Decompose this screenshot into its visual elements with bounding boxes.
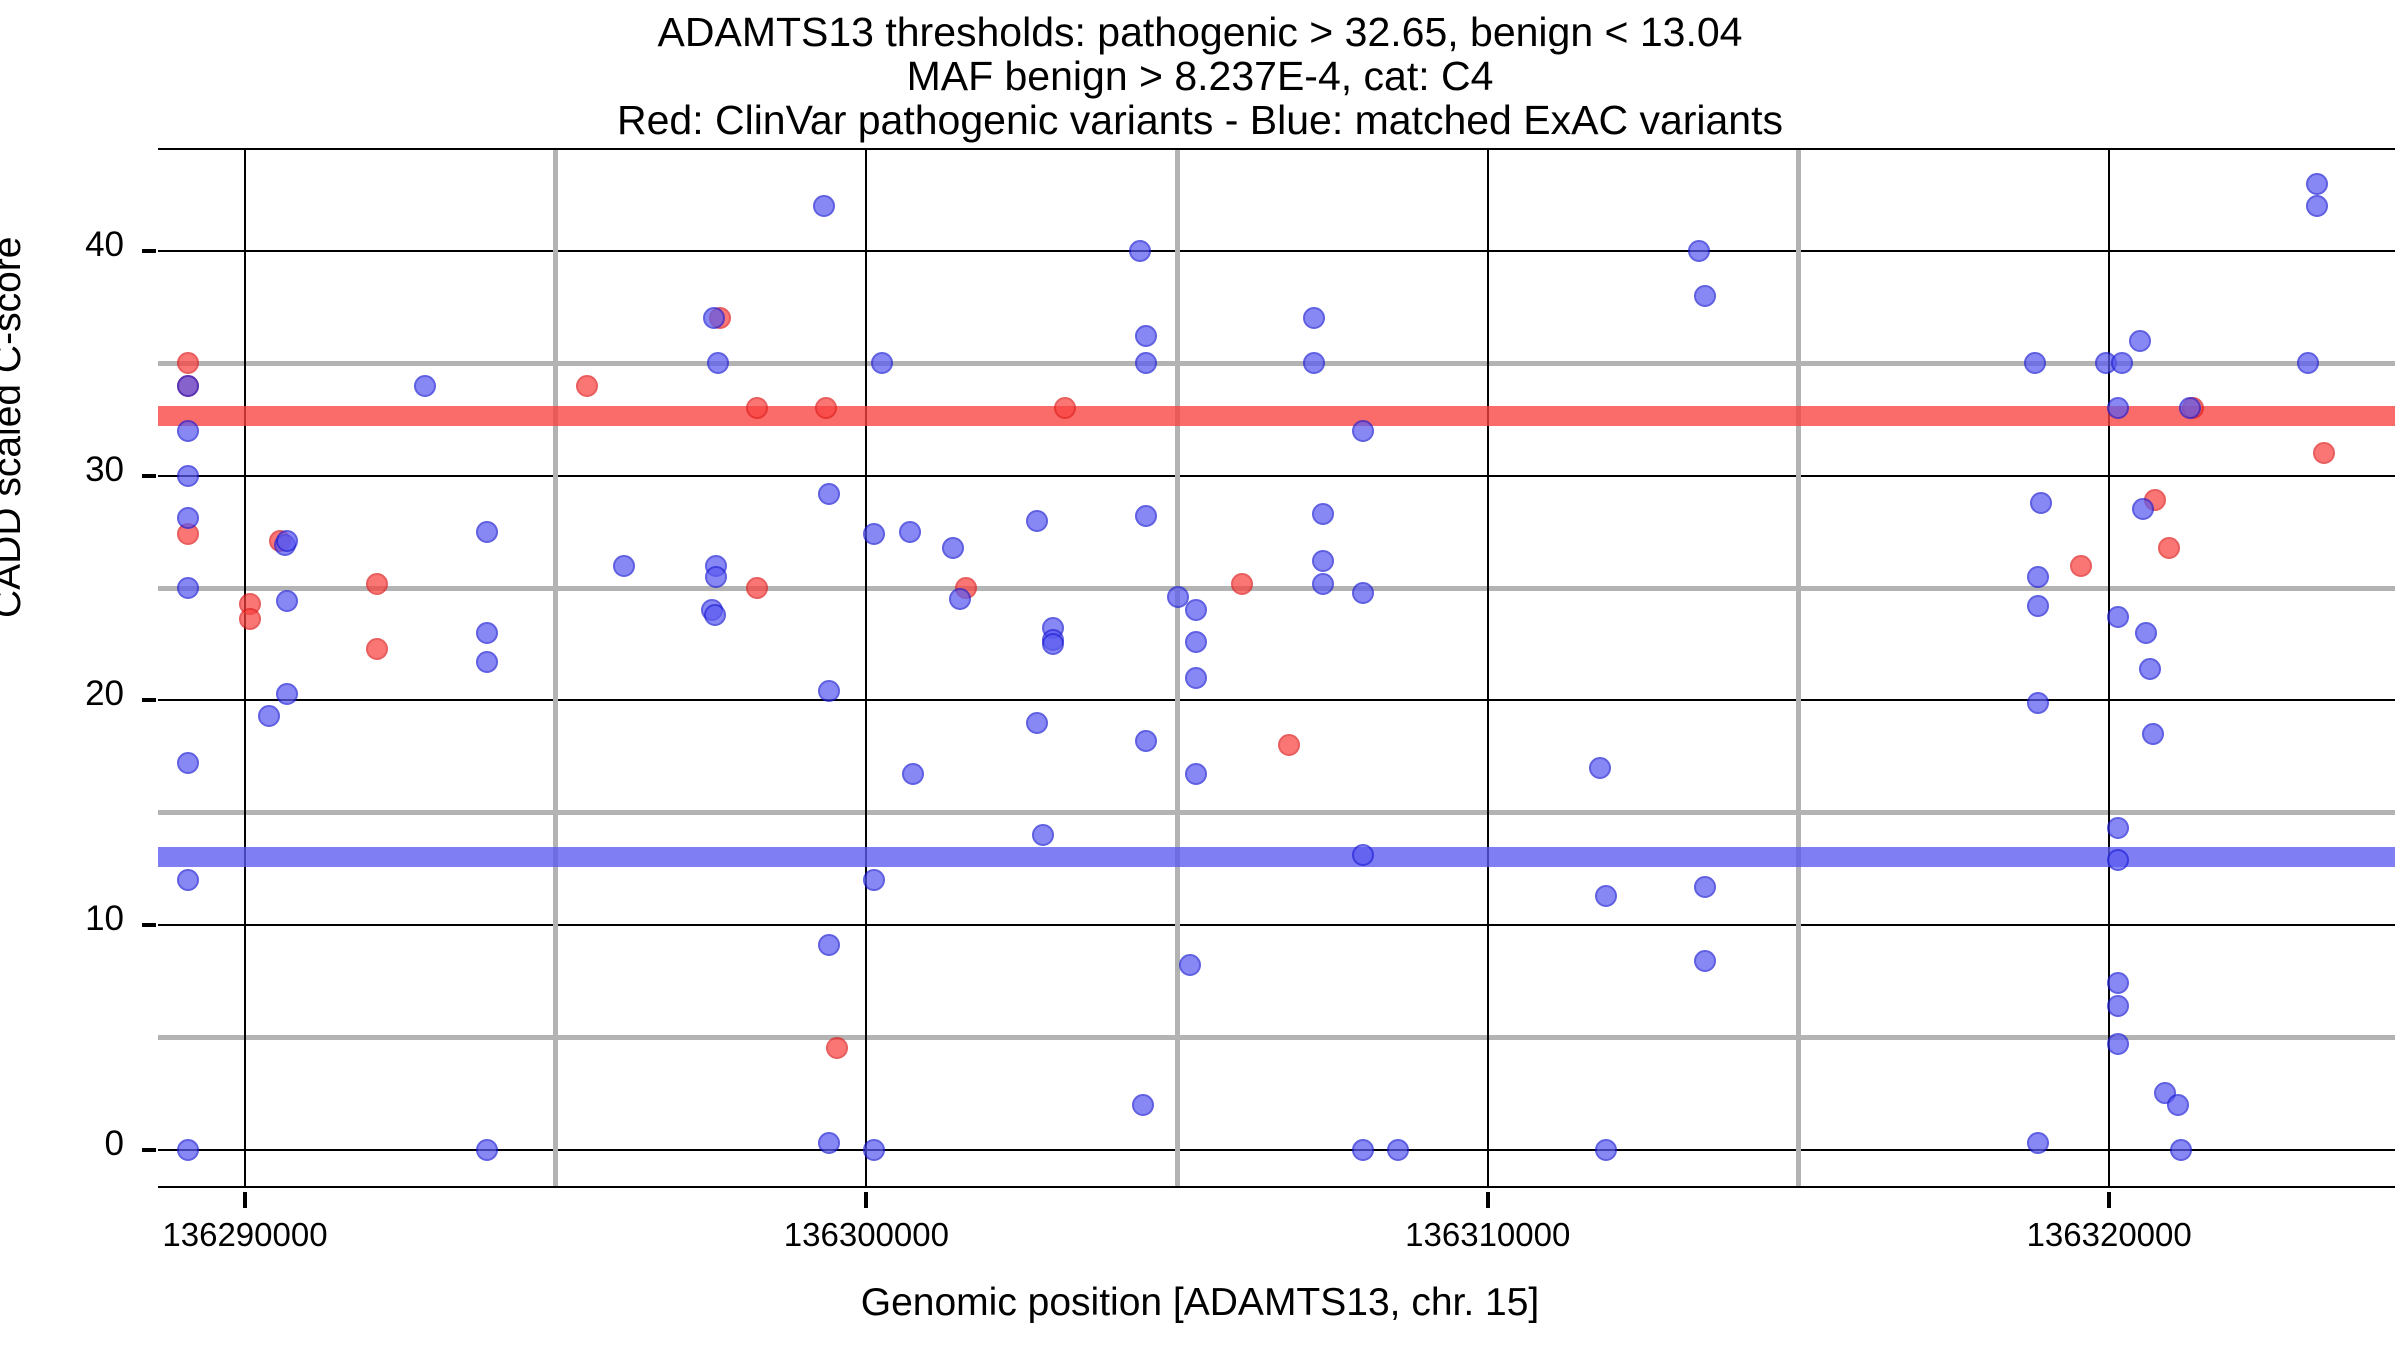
scatter-point-benign: [818, 1132, 840, 1154]
scatter-point-benign: [1026, 510, 1048, 532]
gridline-vertical-major: [2108, 150, 2110, 1186]
scatter-point-benign: [1688, 240, 1710, 262]
scatter-point-benign: [871, 352, 893, 374]
gridline-vertical-minor: [553, 150, 558, 1186]
scatter-point-benign: [1595, 885, 1617, 907]
scatter-point-pathogenic: [366, 573, 388, 595]
threshold-line-pathogenic_threshold: [158, 406, 2395, 426]
x-tick-mark: [864, 1192, 868, 1208]
gridline-horizontal-minor: [158, 586, 2395, 591]
scatter-point-benign: [2139, 658, 2161, 680]
scatter-point-pathogenic: [1231, 573, 1253, 595]
scatter-point-benign: [2135, 622, 2157, 644]
scatter-point-benign: [1694, 876, 1716, 898]
scatter-point-benign: [1303, 352, 1325, 374]
scatter-point-benign: [2027, 566, 2049, 588]
scatter-point-benign: [949, 588, 971, 610]
scatter-point-benign: [863, 869, 885, 891]
gridline-vertical-minor: [1796, 150, 1801, 1186]
x-axis-label: Genomic position [ADAMTS13, chr. 15]: [0, 1281, 2400, 1325]
scatter-point-benign: [2024, 352, 2046, 374]
gridline-vertical-major: [1487, 150, 1489, 1186]
scatter-point-benign: [476, 521, 498, 543]
scatter-point-benign: [476, 622, 498, 644]
scatter-point-benign: [613, 555, 635, 577]
scatter-point-benign: [1185, 763, 1207, 785]
y-tick-mark: [142, 923, 156, 927]
scatter-point-benign: [1135, 352, 1157, 374]
scatter-point-benign: [2297, 352, 2319, 374]
scatter-point-benign: [1132, 1094, 1154, 1116]
y-axis-label: CADD scaled C-score: [0, 237, 30, 618]
scatter-point-benign: [899, 521, 921, 543]
scatter-point-benign: [1032, 824, 1054, 846]
scatter-point-benign: [2111, 352, 2133, 374]
scatter-point-benign: [276, 530, 298, 552]
chart-title-line-2: MAF benign > 8.237E-4, cat: C4: [0, 54, 2400, 98]
scatter-point-benign: [1303, 307, 1325, 329]
scatter-point-benign: [818, 483, 840, 505]
gridline-vertical-major: [244, 150, 246, 1186]
scatter-point-benign: [1352, 420, 1374, 442]
scatter-point-benign: [902, 763, 924, 785]
scatter-point-benign: [1185, 631, 1207, 653]
scatter-point-benign: [1387, 1139, 1409, 1161]
scatter-point-pathogenic: [576, 375, 598, 397]
scatter-point-benign: [177, 375, 199, 397]
scatter-point-pathogenic: [366, 638, 388, 660]
scatter-point-benign: [1312, 503, 1334, 525]
gridline-horizontal-minor: [158, 810, 2395, 815]
scatter-point-benign: [1042, 633, 1064, 655]
scatter-point-pathogenic: [239, 608, 261, 630]
x-tick-mark: [1486, 1192, 1490, 1208]
y-tick-mark: [142, 249, 156, 253]
scatter-point-benign: [177, 752, 199, 774]
gridline-horizontal-major: [158, 475, 2395, 477]
y-tick-mark: [142, 698, 156, 702]
scatter-point-benign: [2142, 723, 2164, 745]
y-tick-label: 10: [0, 899, 124, 939]
scatter-point-benign: [2027, 692, 2049, 714]
scatter-point-benign: [1589, 757, 1611, 779]
scatter-point-benign: [1312, 573, 1334, 595]
scatter-point-benign: [476, 1139, 498, 1161]
scatter-point-benign: [2030, 492, 2052, 514]
scatter-point-benign: [1135, 730, 1157, 752]
scatter-point-benign: [2170, 1139, 2192, 1161]
chart-title-line-1: ADAMTS13 thresholds: pathogenic > 32.65,…: [0, 10, 2400, 54]
scatter-point-benign: [2107, 1033, 2129, 1055]
gridline-horizontal-major: [158, 924, 2395, 926]
scatter-point-benign: [476, 651, 498, 673]
scatter-point-benign: [177, 869, 199, 891]
scatter-point-benign: [1185, 667, 1207, 689]
scatter-point-benign: [1026, 712, 1048, 734]
gridline-horizontal-minor: [158, 361, 2395, 366]
scatter-point-benign: [2027, 1132, 2049, 1154]
chart-title: ADAMTS13 thresholds: pathogenic > 32.65,…: [0, 10, 2400, 142]
gridline-horizontal-major: [158, 699, 2395, 701]
scatter-point-pathogenic: [1278, 734, 1300, 756]
x-tick-label: 136320000: [2027, 1216, 2192, 1254]
scatter-point-pathogenic: [2070, 555, 2092, 577]
scatter-point-benign: [1595, 1139, 1617, 1161]
y-tick-mark: [142, 1148, 156, 1152]
scatter-point-benign: [177, 465, 199, 487]
gridline-horizontal-minor: [158, 1035, 2395, 1040]
plot-area: [158, 148, 2395, 1188]
scatter-point-benign: [1179, 954, 1201, 976]
scatter-point-pathogenic: [826, 1037, 848, 1059]
scatter-point-benign: [177, 1139, 199, 1161]
threshold-line-benign_threshold: [158, 847, 2395, 867]
gridline-vertical-major: [865, 150, 867, 1186]
scatter-point-benign: [813, 195, 835, 217]
x-tick-label: 136290000: [162, 1216, 327, 1254]
scatter-point-pathogenic: [2158, 537, 2180, 559]
scatter-point-benign: [2167, 1094, 2189, 1116]
scatter-point-benign: [1694, 950, 1716, 972]
scatter-point-benign: [2107, 606, 2129, 628]
scatter-point-benign: [1129, 240, 1151, 262]
scatter-point-pathogenic: [746, 577, 768, 599]
scatter-point-benign: [2306, 195, 2328, 217]
x-tick-mark: [2107, 1192, 2111, 1208]
scatter-point-benign: [177, 420, 199, 442]
y-tick-label: 20: [0, 674, 124, 714]
chart-title-line-3: Red: ClinVar pathogenic variants - Blue:…: [0, 98, 2400, 142]
scatter-point-benign: [863, 1139, 885, 1161]
y-tick-label: 0: [0, 1124, 124, 1164]
scatter-point-benign: [863, 523, 885, 545]
x-tick-label: 136310000: [1405, 1216, 1570, 1254]
scatter-point-benign: [1694, 285, 1716, 307]
scatter-point-benign: [177, 577, 199, 599]
scatter-point-benign: [276, 683, 298, 705]
scatter-point-benign: [1312, 550, 1334, 572]
scatter-point-benign: [942, 537, 964, 559]
scatter-point-pathogenic: [177, 352, 199, 374]
scatter-point-benign: [818, 934, 840, 956]
x-tick-label: 136300000: [784, 1216, 949, 1254]
y-tick-mark: [142, 474, 156, 478]
scatter-point-benign: [414, 375, 436, 397]
scatter-point-benign: [2107, 849, 2129, 871]
scatter-point-pathogenic: [2313, 442, 2335, 464]
scatter-point-benign: [1352, 582, 1374, 604]
scatter-point-benign: [705, 566, 727, 588]
scatter-point-benign: [2107, 995, 2129, 1017]
scatter-point-benign: [2129, 330, 2151, 352]
scatter-point-benign: [707, 352, 729, 374]
scatter-point-benign: [1185, 599, 1207, 621]
scatter-point-benign: [258, 705, 280, 727]
scatter-point-benign: [704, 604, 726, 626]
scatter-point-benign: [1352, 1139, 1374, 1161]
scatter-point-benign: [2107, 817, 2129, 839]
gridline-horizontal-major: [158, 250, 2395, 252]
scatter-plot-figure: ADAMTS13 thresholds: pathogenic > 32.65,…: [0, 0, 2400, 1350]
gridline-vertical-minor: [1175, 150, 1180, 1186]
x-tick-mark: [243, 1192, 247, 1208]
scatter-point-benign: [2132, 498, 2154, 520]
scatter-point-benign: [2107, 972, 2129, 994]
scatter-point-benign: [276, 590, 298, 612]
scatter-point-benign: [1135, 325, 1157, 347]
scatter-point-benign: [2306, 173, 2328, 195]
scatter-point-benign: [2027, 595, 2049, 617]
scatter-point-benign: [1135, 505, 1157, 527]
